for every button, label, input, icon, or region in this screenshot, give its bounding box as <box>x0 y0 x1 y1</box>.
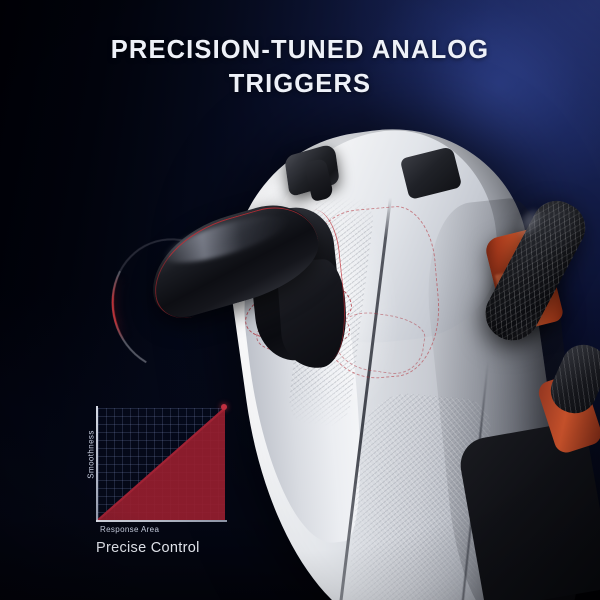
chart-x-axis-label: Response Area <box>100 525 159 534</box>
chart-x-axis <box>96 520 227 522</box>
page-title-line-2: TRIGGERS <box>0 67 600 101</box>
page-title: PRECISION-TUNED ANALOG TRIGGERS <box>0 33 600 101</box>
product-marketing-image: PRECISION-TUNED ANALOG TRIGGERS <box>0 0 600 600</box>
page-title-line-1: PRECISION-TUNED ANALOG <box>0 33 600 67</box>
chart-plot-area <box>98 408 225 520</box>
chart-y-axis-label: Smoothness <box>87 418 96 492</box>
chart-peak-marker <box>221 404 227 410</box>
chart-y-axis <box>96 406 98 522</box>
analog-trigger <box>140 190 350 360</box>
response-curve-chart: Smoothness Response Area Precise Control <box>78 400 250 560</box>
chart-caption: Precise Control <box>96 540 200 556</box>
chart-response-line <box>97 409 224 521</box>
